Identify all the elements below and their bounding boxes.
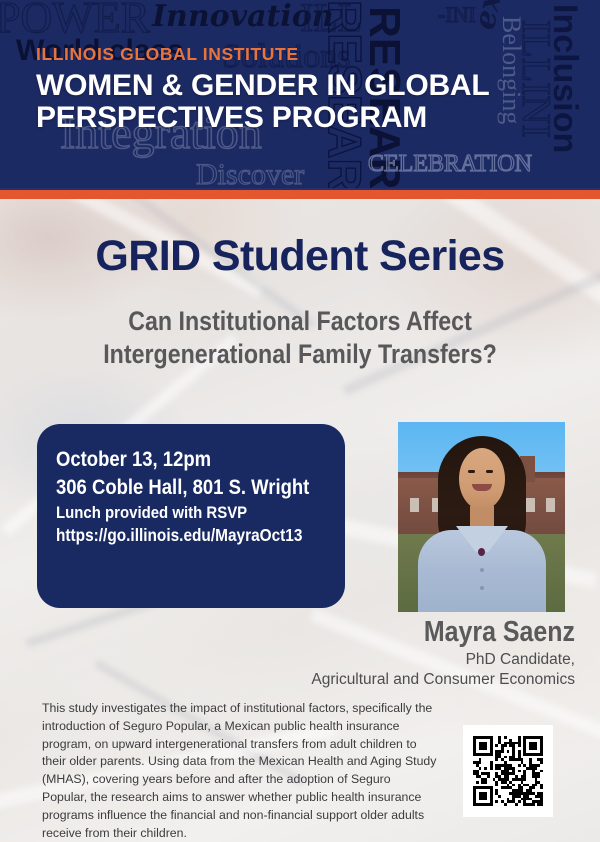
talk-title-line-2: Intergenerational Family Transfers? xyxy=(68,338,532,371)
event-location: 306 Coble Hall, 801 S. Wright xyxy=(56,474,310,502)
event-date-time: October 13, 12pm xyxy=(56,446,310,474)
speaker-role: PhD Candidate, Agricultural and Consumer… xyxy=(230,650,575,690)
speaker-name: Mayra Saenz xyxy=(347,618,575,647)
program-name-line-1: WOMEN & GENDER IN GLOBAL xyxy=(36,70,490,102)
speaker-role-line-2: Agricultural and Consumer Economics xyxy=(230,670,575,690)
orange-divider-rule xyxy=(0,190,600,199)
talk-title-line-1: Can Institutional Factors Affect xyxy=(68,305,532,338)
talk-title: Can Institutional Factors Affect Interge… xyxy=(68,305,532,371)
page-title: GRID Student Series xyxy=(0,232,600,281)
institute-name: ILLINOIS GLOBAL INSTITUTE xyxy=(36,44,490,65)
event-details-box: October 13, 12pm 306 Coble Hall, 801 S. … xyxy=(37,424,345,608)
abstract-text: This study investigates the impact of in… xyxy=(42,700,437,842)
qr-code-matrix xyxy=(473,736,543,806)
speaker-photo xyxy=(398,422,565,612)
rsvp-link[interactable]: https://go.illinois.edu/MayraOct13 xyxy=(56,524,310,547)
program-name-line-2: PERSPECTIVES PROGRAM xyxy=(36,102,490,134)
speaker-role-line-1: PhD Candidate, xyxy=(230,650,575,670)
rsvp-note: Lunch provided with RSVP xyxy=(56,502,310,525)
header-banner: POWER Innovation ILL World class Solutio… xyxy=(0,0,600,188)
qr-code[interactable] xyxy=(463,725,553,817)
event-poster: POWER Innovation ILL World class Solutio… xyxy=(0,0,600,842)
banner-text-block: ILLINOIS GLOBAL INSTITUTE WOMEN & GENDER… xyxy=(36,44,490,134)
